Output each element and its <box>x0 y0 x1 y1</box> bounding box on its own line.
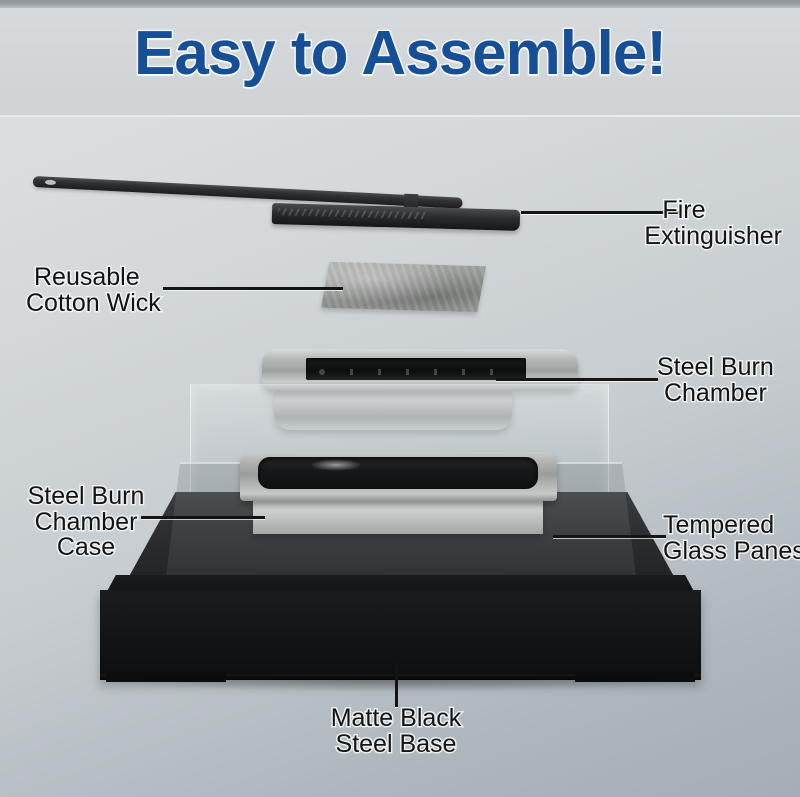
case-body <box>253 498 543 534</box>
callout-line-2: Chamber <box>657 381 774 407</box>
callout-line-2: Cotton Wick <box>26 291 161 317</box>
callout-line-1: Reusable <box>26 265 161 291</box>
burn-chamber-slot <box>306 358 526 380</box>
callout-line-1: Fire <box>644 198 782 224</box>
callout-fire-extinguisher: Fire Extinguisher <box>644 198 782 249</box>
callout-line-2: Chamber <box>22 510 150 536</box>
callout-reusable-cotton-wick: Reusable Cotton Wick <box>26 265 161 316</box>
callout-tempered-glass-panes: Tempered Glass Panes <box>663 513 800 564</box>
base-drop-shadow <box>96 676 706 692</box>
leader-line-burn-chamber-case <box>141 516 265 519</box>
matte-black-steel-base-part <box>100 590 701 680</box>
leader-line-steel-burn-chamber <box>496 378 658 381</box>
callout-line-1: Matte Black <box>326 706 466 732</box>
leader-line-tempered-glass-panes <box>553 535 666 538</box>
callout-line-1: Steel Burn <box>22 484 150 510</box>
callout-line-2: Steel Base <box>326 732 466 758</box>
callout-line-2: Glass Panes <box>663 539 800 565</box>
snuffer-grip-plate <box>272 203 520 231</box>
leader-line-cotton-wick <box>163 287 343 290</box>
callout-steel-burn-chamber-case: Steel Burn Chamber Case <box>22 484 150 561</box>
callout-line-3: Case <box>22 535 150 561</box>
snuffer-rod <box>33 176 463 209</box>
callout-line-1: Steel Burn <box>657 355 774 381</box>
callout-matte-black-steel-base: Matte Black Steel Base <box>326 706 466 757</box>
callout-line-2: Extinguisher <box>644 224 782 250</box>
case-rim <box>240 452 557 501</box>
callout-line-1: Tempered <box>663 513 800 539</box>
product-infographic: Easy to Assemble! <box>0 0 800 797</box>
case-well <box>258 457 538 489</box>
callout-steel-burn-chamber: Steel Burn Chamber <box>657 355 774 406</box>
cotton-wick-part <box>321 262 486 312</box>
leader-line-matte-black-base <box>395 663 398 707</box>
snuffer-hang-hole <box>45 180 56 186</box>
